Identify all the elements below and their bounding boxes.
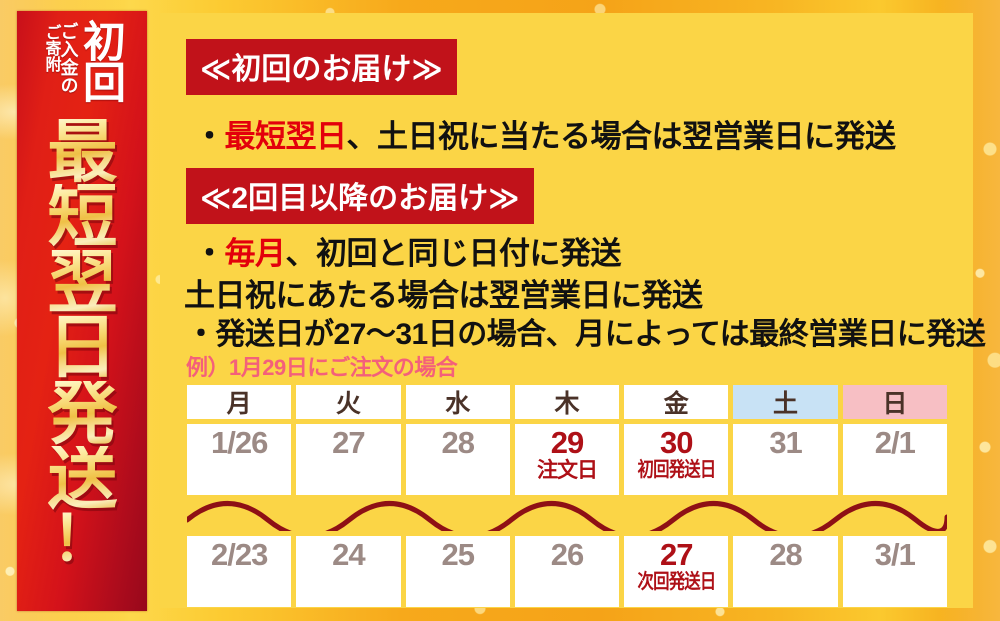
- side-banner-headline: 最 短 翌 日 発 送 ！: [17, 119, 147, 603]
- headline-char-4: 日: [48, 315, 117, 380]
- calendar-day-number: 31: [769, 427, 801, 460]
- calendar-day-cell: 28: [406, 424, 510, 495]
- calendar-day-number: 2/23: [211, 539, 267, 572]
- side-banner-top-text: 初回 ご入金の ご寄附: [17, 22, 147, 114]
- calendar-day-number: 28: [441, 427, 473, 460]
- headline-char-5: 発: [48, 381, 117, 446]
- side-banner-col-3: 初回: [79, 19, 122, 101]
- calendar-day-cell: 1/26: [187, 424, 291, 495]
- calendar-day-number: 24: [332, 539, 364, 572]
- calendar-day-number: 27: [660, 539, 692, 572]
- bullet-mark-2: ・: [194, 236, 225, 271]
- calendar-day-cell: 2/23: [187, 536, 291, 607]
- headline-char-7: ！: [51, 512, 112, 568]
- weekday-sun: 日: [843, 385, 947, 419]
- calendar-row-first-week: 1/26272829注文日30初回発送日312/1: [187, 424, 947, 495]
- content-panel: ≪初回のお届け≫ ・最短翌日、土日祝に当たる場合は翌営業日に発送 ≪2回目以降の…: [160, 13, 973, 608]
- side-banner-col-2: ご入金の: [60, 22, 78, 94]
- calendar-day-number: 28: [769, 539, 801, 572]
- calendar-day-tag: 注文日: [537, 460, 597, 482]
- subsequent-delivery-text-1: ・毎月、初回と同じ日付に発送: [194, 228, 621, 273]
- calendar-day-cell: 3/1: [843, 536, 947, 607]
- calendar-day-number: 27: [332, 427, 364, 460]
- first-delivery-highlight: 最短翌日: [225, 119, 347, 154]
- calendar-day-cell: 27次回発送日: [624, 536, 728, 607]
- calendar-day-number: 1/26: [211, 427, 267, 460]
- weekday-tue: 火: [296, 385, 400, 419]
- promo-banner: 初回 ご入金の ご寄附 最 短 翌 日 発 送 ！ ≪初回のお届け≫ ・最短翌日…: [0, 0, 1000, 621]
- headline-char-1: 最: [48, 119, 117, 184]
- side-banner: 初回 ご入金の ご寄附 最 短 翌 日 発 送 ！: [17, 11, 147, 611]
- calendar-day-tag: 初回発送日: [637, 460, 715, 481]
- calendar-day-cell: 31: [733, 424, 837, 495]
- headline-char-2: 短: [48, 184, 117, 249]
- calendar-day-number: 2/1: [875, 427, 915, 460]
- subsequent-delivery-text-3: ・発送日が27〜31日の場合、月によっては最終営業日に発送: [186, 309, 985, 353]
- calendar-day-number: 30: [660, 427, 692, 460]
- headline-char-3: 翌: [48, 250, 117, 315]
- calendar-day-cell: 26: [515, 536, 619, 607]
- calendar-day-cell: 30初回発送日: [624, 424, 728, 495]
- calendar-day-tag: 次回発送日: [637, 572, 715, 593]
- side-banner-col-1: ご寄附: [43, 24, 59, 72]
- weekday-sat: 土: [733, 385, 837, 419]
- wavy-divider: [187, 497, 947, 531]
- bullet-mark-1: ・: [194, 119, 225, 154]
- calendar-day-cell: 29注文日: [515, 424, 619, 495]
- weekday-fri: 金: [624, 385, 728, 419]
- calendar: 月 火 水 木 金 土 日 1/26272829注文日30初回発送日312/1 …: [187, 385, 947, 607]
- calendar-day-cell: 25: [406, 536, 510, 607]
- subsequent-delivery-highlight: 毎月: [225, 236, 286, 271]
- headline-char-6: 送: [48, 446, 117, 511]
- calendar-day-cell: 27: [296, 424, 400, 495]
- section-heading-subsequent-delivery: ≪2回目以降のお届け≫: [186, 168, 534, 224]
- calendar-day-number: 26: [551, 539, 583, 572]
- calendar-day-cell: 24: [296, 536, 400, 607]
- first-delivery-rest: 、土日祝に当たる場合は翌営業日に発送: [347, 119, 896, 154]
- weekday-mon: 月: [187, 385, 291, 419]
- subsequent-delivery-rest: 、初回と同じ日付に発送: [286, 236, 622, 271]
- section-heading-first-delivery: ≪初回のお届け≫: [186, 39, 457, 95]
- calendar-day-number: 3/1: [875, 539, 915, 572]
- calendar-row-second-week: 2/2324252627次回発送日283/1: [187, 536, 947, 607]
- calendar-day-cell: 28: [733, 536, 837, 607]
- calendar-day-number: 25: [441, 539, 473, 572]
- weekday-wed: 水: [406, 385, 510, 419]
- first-delivery-text: ・最短翌日、土日祝に当たる場合は翌営業日に発送: [194, 111, 896, 156]
- example-label: 例）1月29日にご注文の場合: [186, 350, 457, 382]
- calendar-weekday-header: 月 火 水 木 金 土 日: [187, 385, 947, 419]
- weekday-thu: 木: [515, 385, 619, 419]
- calendar-day-number: 29: [551, 427, 583, 460]
- calendar-day-cell: 2/1: [843, 424, 947, 495]
